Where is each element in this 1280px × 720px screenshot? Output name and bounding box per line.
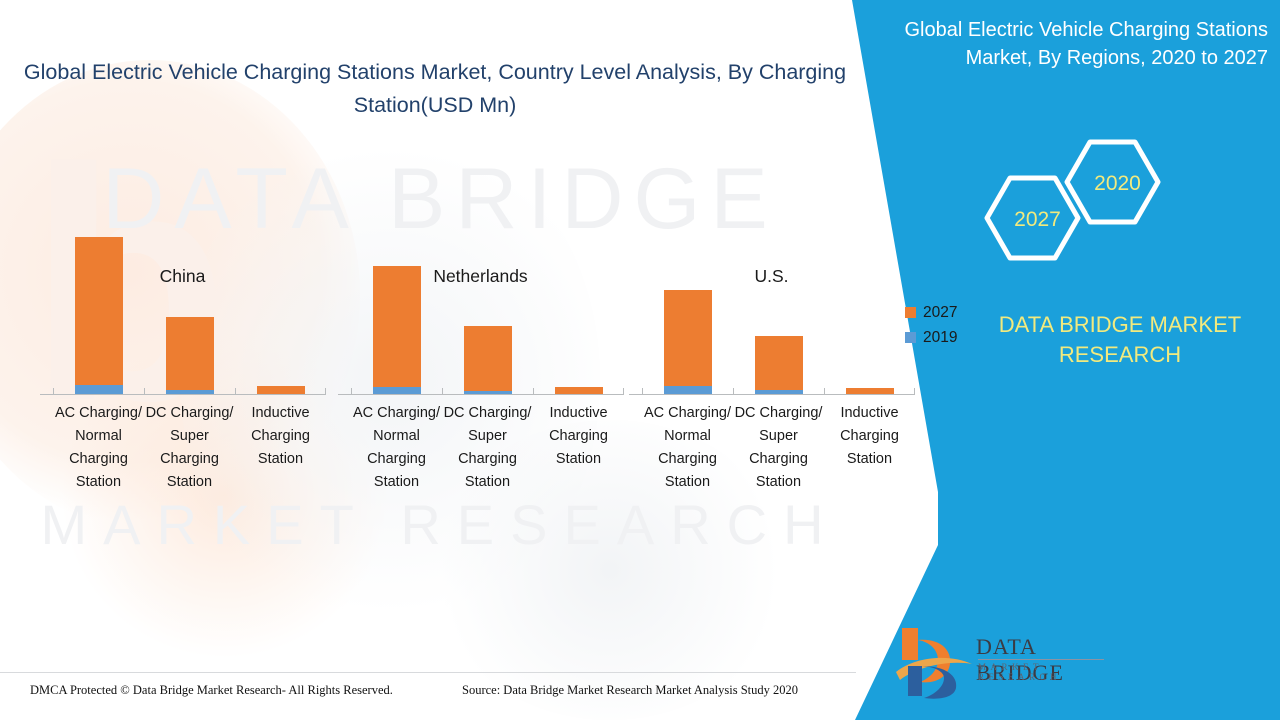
axis-tick <box>144 388 145 395</box>
chart-group-china: China <box>40 150 325 550</box>
legend-swatch-2027 <box>905 307 916 318</box>
axis-tick <box>351 388 352 395</box>
axis-tick <box>325 388 326 395</box>
chart-group-us: U.S. <box>629 150 914 550</box>
footer-source: Source: Data Bridge Market Research Mark… <box>462 683 798 698</box>
category-label: Inductive Charging Station <box>533 402 624 471</box>
category-label: DC Charging/ Super Charging Station <box>733 402 824 494</box>
bars-us <box>629 150 914 395</box>
axis-tick <box>533 388 534 395</box>
category-label: Inductive Charging Station <box>824 402 915 471</box>
axis-tick <box>642 388 643 395</box>
axis-tick <box>914 388 915 395</box>
bar-us-inductive[interactable] <box>846 150 894 395</box>
bar-netherlands-ac[interactable] <box>373 150 421 395</box>
legend-swatch-2019 <box>905 332 916 343</box>
footer-copyright: DMCA Protected © Data Bridge Market Rese… <box>30 683 393 698</box>
chart-group-netherlands: Netherlands <box>338 150 623 550</box>
category-label: AC Charging/ Normal Charging Station <box>53 402 144 494</box>
bar-us-dc[interactable] <box>755 150 803 395</box>
x-axis-ticks <box>629 388 914 395</box>
bar-segment-2027 <box>373 266 421 387</box>
category-label: Inductive Charging Station <box>235 402 326 471</box>
bar-netherlands-dc[interactable] <box>464 150 512 395</box>
bars-netherlands <box>338 150 623 395</box>
bar-segment-2027 <box>464 326 512 391</box>
bar-segment-2027 <box>755 336 803 390</box>
axis-tick <box>623 388 624 395</box>
bars-china <box>40 150 325 395</box>
bar-china-dc[interactable] <box>166 150 214 395</box>
bar-us-ac[interactable] <box>664 150 712 395</box>
category-label: AC Charging/ Normal Charging Station <box>642 402 733 494</box>
category-label: AC Charging/ Normal Charging Station <box>351 402 442 494</box>
logo-tagline: MARKET RESEARCH <box>978 662 1118 682</box>
axis-tick <box>824 388 825 395</box>
bar-chart: China <box>0 150 900 550</box>
logo-mark-icon <box>888 620 978 702</box>
logo-divider <box>978 659 1104 660</box>
bar-segment-2027 <box>166 317 214 390</box>
hexagon-icons <box>980 130 1180 270</box>
hexagon-label-2020: 2020 <box>1080 172 1155 196</box>
hexagon-group: 2020 2027 <box>980 130 1180 270</box>
axis-tick <box>733 388 734 395</box>
bar-china-ac[interactable] <box>75 150 123 395</box>
bar-netherlands-inductive[interactable] <box>555 150 603 395</box>
bar-china-inductive[interactable] <box>257 150 305 395</box>
infographic-canvas: b DATA BRIDGE MARKET RESEARCH Global Ele… <box>0 0 1280 720</box>
legend-label-2027: 2027 <box>923 304 957 322</box>
bar-segment-2027 <box>664 290 712 386</box>
axis-tick <box>235 388 236 395</box>
hexagon-label-2027: 2027 <box>1000 208 1075 232</box>
axis-tick <box>442 388 443 395</box>
category-label: DC Charging/ Super Charging Station <box>442 402 533 494</box>
axis-tick <box>53 388 54 395</box>
x-axis-ticks <box>338 388 623 395</box>
legend-label-2019: 2019 <box>923 329 957 347</box>
brand-name: DATA BRIDGE MARKET RESEARCH <box>960 310 1280 370</box>
data-bridge-logo: DATA BRIDGE MARKET RESEARCH <box>888 620 1118 702</box>
bar-segment-2027 <box>75 237 123 385</box>
footer-divider <box>0 672 856 673</box>
right-panel-title: Global Electric Vehicle Charging Station… <box>898 16 1268 72</box>
category-label: DC Charging/ Super Charging Station <box>144 402 235 494</box>
x-axis-ticks <box>40 388 325 395</box>
chart-title: Global Electric Vehicle Charging Station… <box>20 56 850 122</box>
